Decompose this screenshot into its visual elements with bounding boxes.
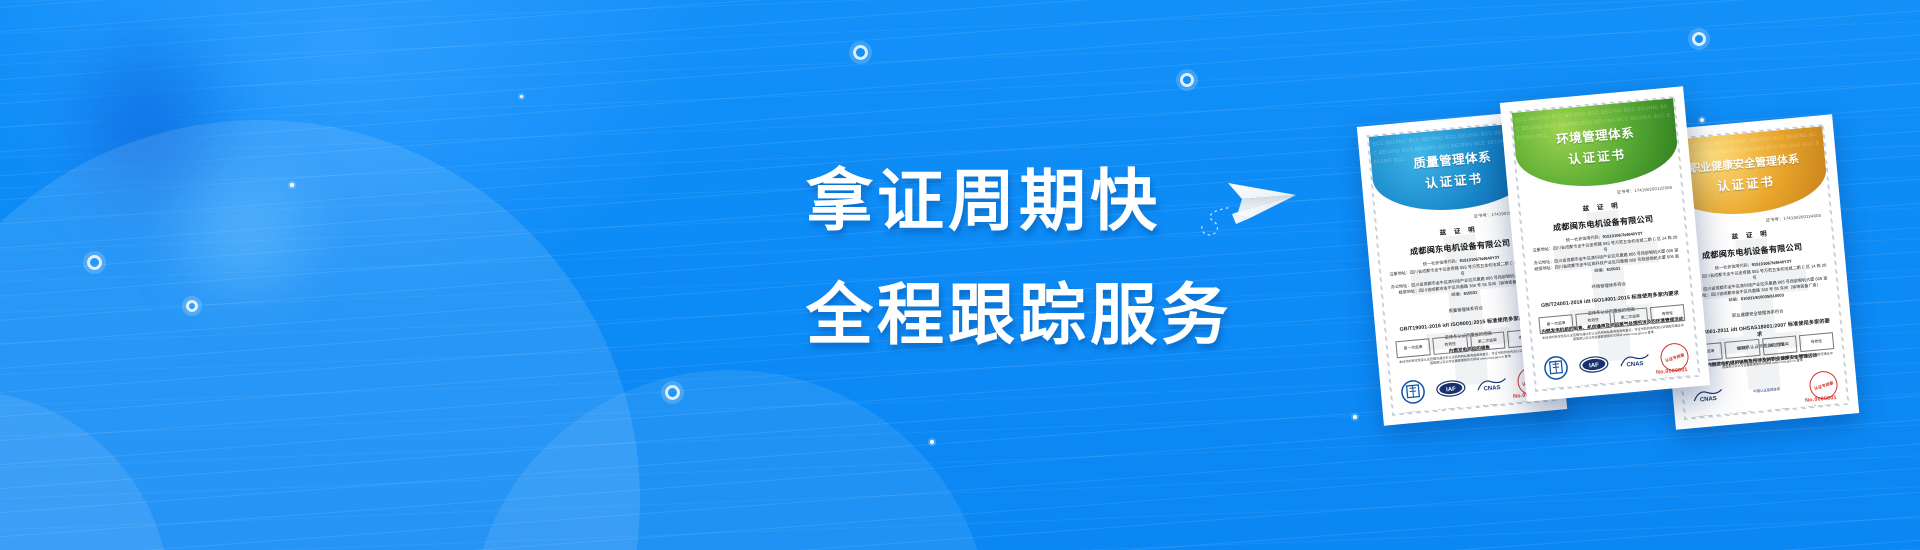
promo-banner: 拿证周期快	[0, 0, 1920, 550]
postcode-label: 邮编：	[1451, 291, 1464, 297]
cn-mark-logo-icon	[1399, 378, 1427, 406]
paper-plane-icon	[1198, 164, 1313, 244]
address-3-label: 经营地址：	[1534, 265, 1555, 272]
certificate-number: 证书号：174190200122006	[1617, 185, 1673, 196]
certificate-number: 证书号：174190200124005	[1766, 213, 1822, 224]
background-dot	[853, 45, 868, 60]
audit-box: 第二次监审	[1613, 307, 1649, 327]
red-seal-label: 认证专用章	[1664, 352, 1685, 363]
certificate-number-label: 证书号：	[1474, 212, 1492, 219]
audit-box: 第三次监审	[1762, 335, 1798, 355]
certificate-number-value: 174190200122006	[1634, 185, 1672, 193]
background-dot	[87, 255, 102, 270]
headline-row-1: 拿证周期快	[806, 158, 1426, 244]
svg-text:CNAS: CNAS	[1483, 385, 1500, 393]
background-dark-blob	[60, 30, 250, 250]
postcode-label: 邮编：	[1728, 296, 1741, 302]
background-dot	[1692, 32, 1706, 46]
headline-line-2: 全程跟踪服务	[806, 272, 1232, 358]
audit-box: 有效性	[1432, 335, 1468, 355]
background-dot	[930, 440, 934, 444]
headline-block: 拿证周期快	[806, 158, 1426, 358]
certificate-group: BCC BEIJING BCC BEIJING BCC BEIJING BCC …	[1370, 80, 1890, 500]
audit-box: 有效性	[1650, 304, 1686, 324]
background-dot	[520, 95, 523, 98]
background-dot	[186, 300, 198, 312]
certificate-number-label: 证书号：	[1766, 216, 1784, 223]
certificate-number-label: 证书号：	[1617, 188, 1635, 195]
headline-row-2: 全程跟踪服务	[806, 272, 1426, 358]
svg-text:CNAS: CNAS	[1626, 361, 1643, 369]
certificate-environment[interactable]: BCC BEIJING BCC BEIJING BCC BEIJING BCC …	[1500, 86, 1710, 401]
postcode-value: 610031	[1463, 290, 1477, 296]
certificate-paper: BCC BEIJING BCC BEIJING BCC BEIJING BCC …	[1512, 98, 1699, 390]
svg-text:IAF: IAF	[1446, 387, 1457, 394]
postcode-label: 邮编：	[1594, 267, 1607, 273]
headline-line-1: 拿证周期快	[806, 158, 1161, 244]
background-circle	[0, 390, 170, 550]
postcode-value: 610031	[1606, 266, 1620, 272]
cnas-caption-text: 中国认证管理体系	[1753, 387, 1780, 393]
background-dot	[290, 183, 294, 187]
cnas-logo-icon: CNAS	[1475, 375, 1508, 394]
background-dot	[665, 385, 680, 400]
svg-text:IAF: IAF	[1589, 363, 1600, 370]
background-circle	[470, 370, 990, 550]
address-1-label: 注册地址：	[1532, 245, 1553, 252]
certificate-header: BCC BEIJING BCC BEIJING BCC BEIJING BCC …	[1512, 98, 1681, 192]
audit-box: 第一次监审	[1538, 314, 1574, 334]
cnas-logo-icon: CNAS	[1691, 386, 1724, 405]
red-seal-label: 认证专用章	[1813, 380, 1834, 391]
background-dot	[1180, 73, 1194, 87]
audit-box: 有效性	[1575, 311, 1611, 331]
iaf-logo-icon: IAF	[1578, 354, 1610, 375]
svg-text:CNAS: CNAS	[1700, 396, 1717, 404]
cnas-logo-icon: CNAS	[1618, 351, 1651, 370]
cn-mark-logo-icon	[1542, 354, 1570, 382]
background-dot	[1353, 415, 1357, 419]
audit-box: 有效性	[1724, 339, 1760, 359]
cnas-caption: 中国认证管理体系	[1753, 387, 1780, 394]
audit-box: 第二次监审	[1470, 331, 1506, 351]
certificate-number-value: 174190200124005	[1783, 213, 1821, 221]
iaf-logo-icon: IAF	[1435, 378, 1467, 399]
background-glow-blob	[150, 140, 340, 330]
background-circle	[0, 120, 640, 550]
audit-box: 有效性	[1799, 332, 1835, 352]
